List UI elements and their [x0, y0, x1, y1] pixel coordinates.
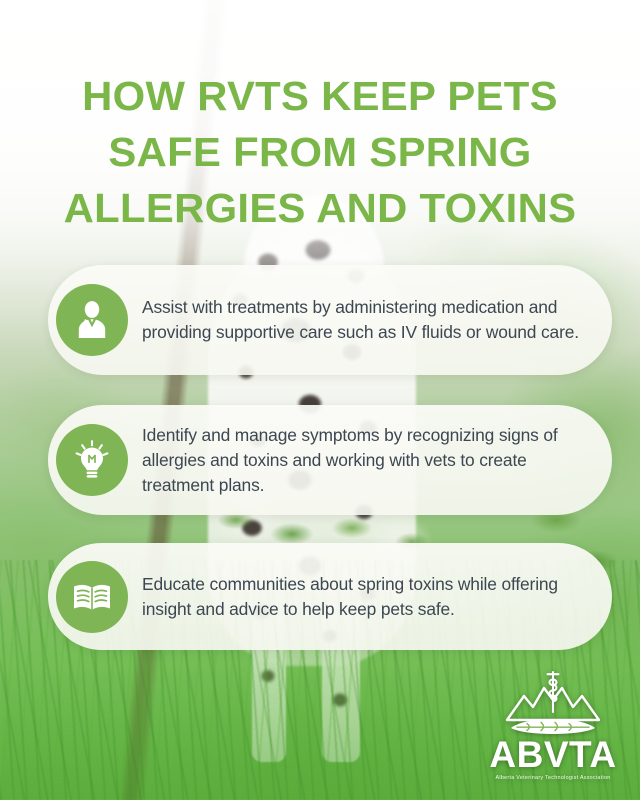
info-card-text: Educate communities about spring toxins …: [142, 572, 594, 622]
info-card-symptoms: Identify and manage symptoms by recogniz…: [48, 405, 612, 515]
info-card-text: Identify and manage symptoms by recogniz…: [142, 423, 594, 498]
info-card-treatments: Assist with treatments by administering …: [48, 265, 612, 375]
lightbulb-idea-icon: [56, 424, 128, 496]
info-card-education: Educate communities about spring toxins …: [48, 543, 612, 650]
logo-wordmark: ABVTA: [489, 736, 616, 774]
headline-line-2: SAFE FROM SPRING: [18, 124, 622, 180]
veterinarian-stethoscope-icon: [56, 284, 128, 356]
poster-content: HOW RVTS KEEP PETS SAFE FROM SPRING ALLE…: [0, 0, 640, 800]
info-card-text: Assist with treatments by administering …: [142, 295, 594, 345]
headline-line-1: HOW RVTS KEEP PETS: [18, 68, 622, 124]
mountain-caduceus-leaf-icon: [487, 666, 619, 740]
logo-tagline: Alberta Veterinary Technologist Associat…: [495, 775, 610, 782]
headline-line-3: ALLERGIES AND TOXINS: [18, 180, 622, 236]
abvta-logo: ABVTA Alberta Veterinary Technologist As…: [484, 666, 622, 782]
infographic-poster: HOW RVTS KEEP PETS SAFE FROM SPRING ALLE…: [0, 0, 640, 800]
open-book-icon: [56, 561, 128, 633]
page-title: HOW RVTS KEEP PETS SAFE FROM SPRING ALLE…: [0, 68, 640, 236]
